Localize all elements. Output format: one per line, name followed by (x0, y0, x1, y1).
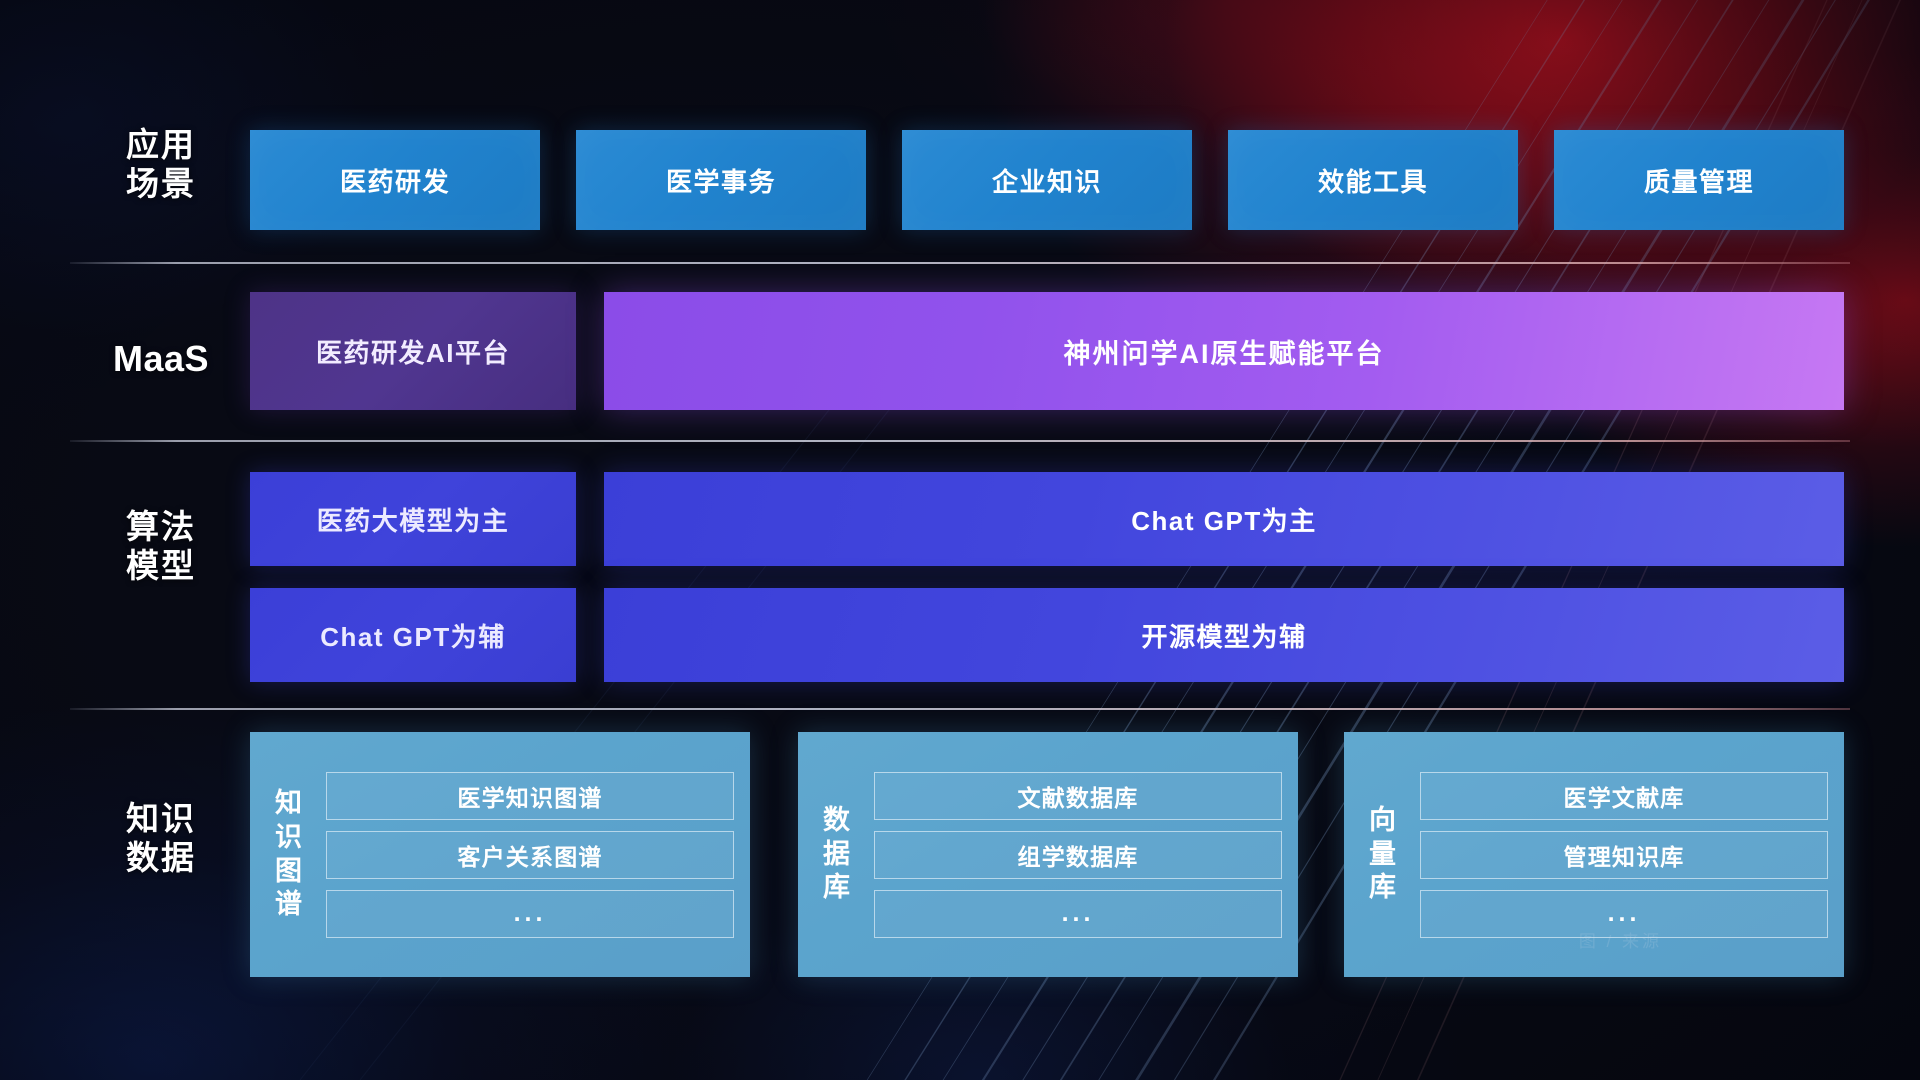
knowledge-panel-vector-label: 向量库 (1344, 804, 1416, 905)
algo-box-secondary-right-label: 开源模型为辅 (1141, 617, 1306, 654)
knowledge-panel-vector-items: 医学文献库 管理知识库 ... (1416, 758, 1844, 952)
knowledge-item[interactable]: 客户关系图谱 (326, 831, 734, 879)
knowledge-panel-database-label: 数据库 (798, 804, 870, 905)
maas-left-box-label: 医药研发AI平台 (316, 333, 510, 370)
row-label-maas: MaaS (72, 338, 250, 380)
scenario-box-5[interactable]: 质量管理 (1554, 130, 1844, 230)
row-label-application-scenario: 应用 场景 (72, 126, 250, 204)
row-label-algo-line2: 模型 (72, 547, 250, 586)
divider-2 (70, 440, 1850, 442)
algo-box-secondary-left-label: Chat GPT为辅 (320, 617, 505, 654)
divider-1 (70, 262, 1850, 264)
divider-3 (70, 708, 1850, 710)
row-label-algo-line1: 算法 (72, 508, 250, 547)
knowledge-item-label: 客户关系图谱 (457, 838, 602, 872)
knowledge-panel-database-items: 文献数据库 组学数据库 ... (870, 758, 1298, 952)
watermark: 图 / 来源 (1579, 927, 1662, 952)
maas-right-box-label: 神州问学AI原生赋能平台 (1064, 332, 1385, 371)
scenario-box-5-label: 质量管理 (1644, 162, 1754, 199)
knowledge-panel-database[interactable]: 数据库 文献数据库 组学数据库 ... (798, 732, 1298, 977)
row-label-knowledge-data: 知识 数据 (72, 800, 250, 878)
algo-box-primary-left-label: 医药大模型为主 (317, 501, 510, 538)
knowledge-item[interactable]: 医学文献库 (1420, 772, 1828, 820)
knowledge-item-label: 管理知识库 (1564, 838, 1685, 872)
row-label-maas-text: MaaS (72, 338, 250, 380)
knowledge-panel-graph-label: 知识图谱 (250, 787, 322, 922)
scenario-box-1[interactable]: 医药研发 (250, 130, 540, 230)
knowledge-panel-graph-items: 医学知识图谱 客户关系图谱 ... (322, 758, 750, 952)
knowledge-item-more[interactable]: ... (326, 890, 734, 938)
knowledge-item[interactable]: 医学知识图谱 (326, 772, 734, 820)
row-label-algorithm-model: 算法 模型 (72, 508, 250, 586)
knowledge-item-more[interactable]: ... (874, 890, 1282, 938)
knowledge-item-label: 医学文献库 (1564, 779, 1685, 813)
architecture-diagram: 应用 场景 医药研发 医学事务 企业知识 效能工具 质量管理 MaaS 医药研发… (0, 0, 1920, 1080)
knowledge-item-label: ... (1608, 899, 1641, 928)
knowledge-item[interactable]: 文献数据库 (874, 772, 1282, 820)
maas-left-box[interactable]: 医药研发AI平台 (250, 292, 576, 410)
algo-box-secondary-left[interactable]: Chat GPT为辅 (250, 588, 576, 682)
knowledge-item-label: ... (514, 899, 547, 928)
algo-box-primary-right[interactable]: Chat GPT为主 (604, 472, 1844, 566)
scenario-box-4-label: 效能工具 (1318, 162, 1428, 199)
knowledge-item[interactable]: 管理知识库 (1420, 831, 1828, 879)
scenario-box-3[interactable]: 企业知识 (902, 130, 1192, 230)
row-label-line2: 场景 (72, 165, 250, 204)
row-label-kd-line2: 数据 (72, 839, 250, 878)
knowledge-item-label: 医学知识图谱 (457, 779, 602, 813)
algo-box-primary-left[interactable]: 医药大模型为主 (250, 472, 576, 566)
knowledge-panel-graph[interactable]: 知识图谱 医学知识图谱 客户关系图谱 ... (250, 732, 750, 977)
knowledge-item[interactable]: 组学数据库 (874, 831, 1282, 879)
scenario-box-4[interactable]: 效能工具 (1228, 130, 1518, 230)
maas-right-box[interactable]: 神州问学AI原生赋能平台 (604, 292, 1844, 410)
row-label-kd-line1: 知识 (72, 800, 250, 839)
scenario-box-3-label: 企业知识 (992, 162, 1102, 199)
scenario-box-2[interactable]: 医学事务 (576, 130, 866, 230)
scenario-box-1-label: 医药研发 (340, 162, 450, 199)
algo-box-primary-right-label: Chat GPT为主 (1131, 501, 1316, 538)
algo-box-secondary-right[interactable]: 开源模型为辅 (604, 588, 1844, 682)
scenario-box-2-label: 医学事务 (666, 162, 776, 199)
knowledge-item-label: 组学数据库 (1018, 838, 1139, 872)
knowledge-item-label: 文献数据库 (1018, 779, 1139, 813)
knowledge-item-label: ... (1062, 899, 1095, 928)
row-label-line1: 应用 (72, 126, 250, 165)
